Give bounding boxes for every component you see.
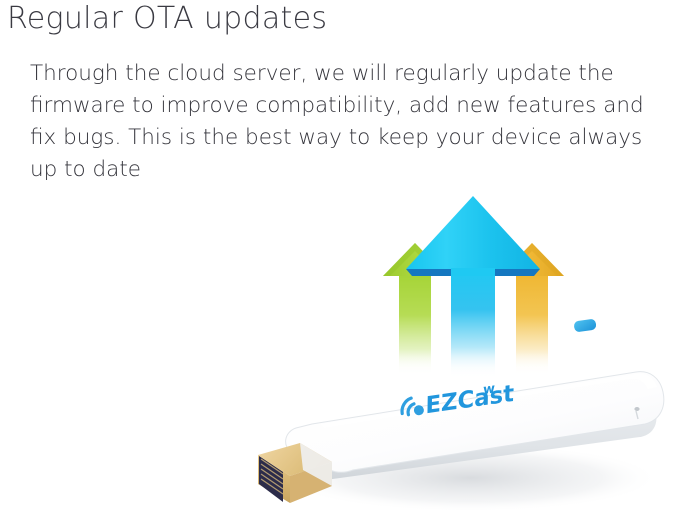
illustration-svg: EZCast w (0, 0, 680, 520)
illustration-graphic: EZCast w (0, 0, 680, 520)
slide-root: Regular OTA updates Through the cloud se… (0, 0, 680, 520)
arrow-group (370, 196, 570, 395)
led-indicator (573, 319, 596, 333)
ezcast-logo-suffix: w (483, 381, 495, 398)
